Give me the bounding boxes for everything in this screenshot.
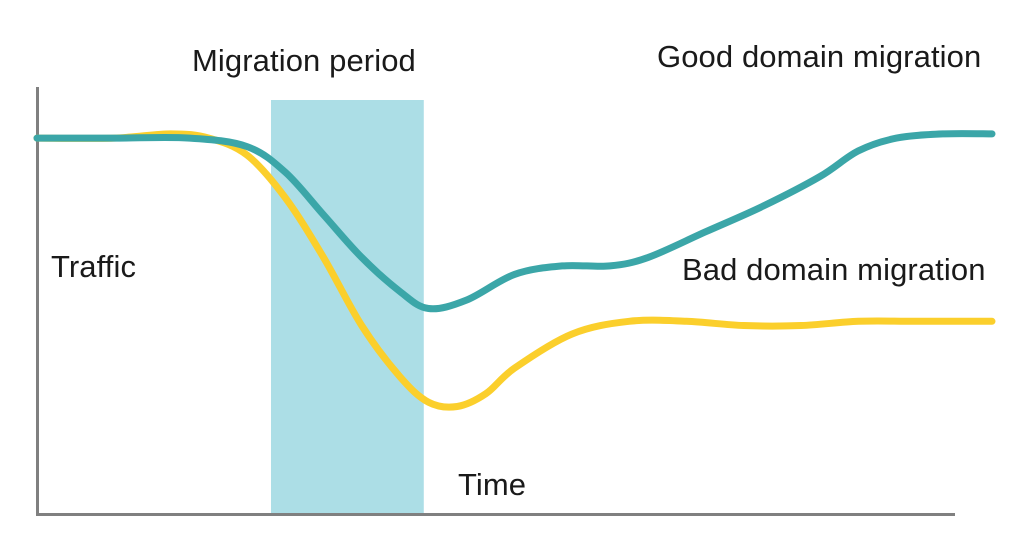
y-axis-label: Traffic <box>51 250 136 284</box>
good-domain-migration-label: Good domain migration <box>657 40 981 74</box>
bad-domain-migration-label: Bad domain migration <box>682 253 986 287</box>
x-axis-label: Time <box>458 468 526 502</box>
traffic-migration-chart: Migration period Good domain migration B… <box>0 0 1024 536</box>
migration-period-label: Migration period <box>192 44 416 78</box>
